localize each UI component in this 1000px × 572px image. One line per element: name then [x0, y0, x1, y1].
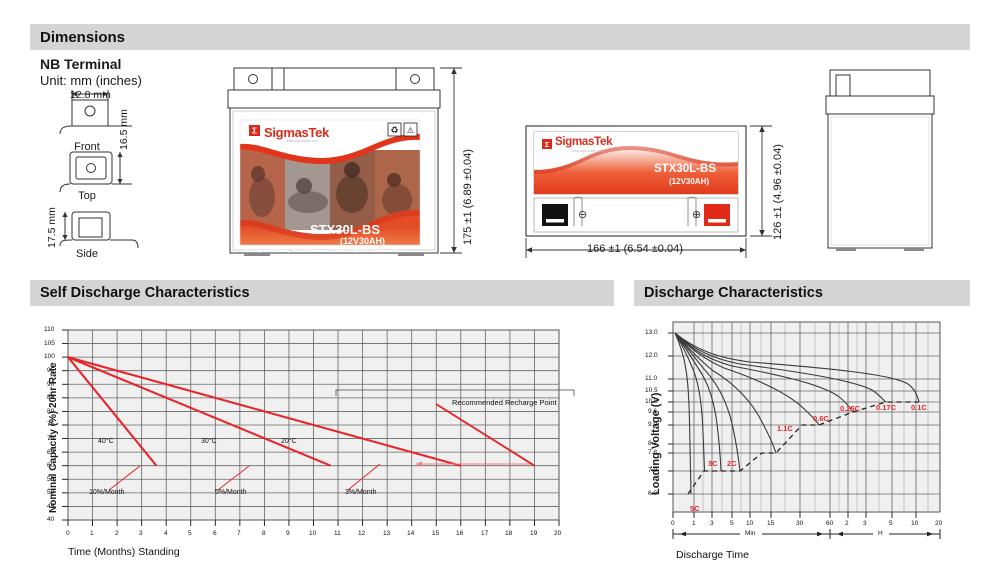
battery-side-height-dim-label: 126 ±1 (4.96 ±0.04) — [772, 144, 784, 240]
svg-text:♻: ♻ — [390, 125, 398, 135]
battery-brand-front: SigmasTek — [264, 125, 329, 140]
dis-curve-label-2c: 2C — [727, 459, 737, 468]
dis-ytick-11: 11.0 — [645, 375, 657, 382]
terminal-depth-dim-label: 16.5 mm — [118, 109, 130, 150]
sd-xtick-2: 2 — [115, 530, 119, 537]
terminal-width-dim-label: 12.8 mm — [70, 89, 111, 101]
sd-annot-3pct: 3%/Month — [345, 489, 377, 496]
battery-rear-view — [818, 62, 968, 262]
dis-xtick-15: 15 — [767, 520, 774, 527]
dis-xtick-5: 5 — [730, 520, 734, 527]
dis-xtick-60: 60 — [826, 520, 833, 527]
sd-annot-5pct: 5%/Month — [215, 489, 247, 496]
section-header-discharge: Discharge Characteristics — [634, 280, 970, 306]
sd-annot-20c: 20°C — [281, 438, 297, 445]
dis-curve-label-025c: 0.25C — [840, 404, 860, 413]
terminal-height-dim-label: 17.5 mm — [46, 207, 58, 248]
sd-xtick-5: 5 — [188, 530, 192, 537]
dis-xtick-10h: 10 — [911, 520, 918, 527]
dis-curve-label-3c: 3C — [708, 459, 718, 468]
self-discharge-chart — [36, 312, 596, 562]
unit-label: Unit: mm (inches) — [40, 73, 142, 88]
sd-annot-40c: 40°C — [98, 438, 114, 445]
dis-x-axis-title: Discharge Time — [676, 549, 749, 561]
sd-xtick-1: 1 — [90, 530, 94, 537]
sd-ytick-100: 100 — [44, 353, 55, 360]
terminal-view-front-label: Front — [62, 141, 112, 153]
terminal-view-top-label: Top — [62, 190, 112, 202]
dis-xtick-3h: 3 — [863, 520, 867, 527]
dis-curve-label-01c: 0.1C — [911, 403, 927, 412]
terminal-view-side-label: Side — [62, 248, 112, 260]
sd-y-axis-title: Nominal Capacity (%) 20hr Rate — [48, 362, 59, 513]
section-header-self-discharge: Self Discharge Characteristics — [30, 280, 614, 306]
dis-curve-label-06c: 0.6C — [813, 414, 829, 423]
battery-model-side: STX30L-BS — [654, 163, 716, 175]
nb-terminal-title: NB Terminal — [40, 56, 121, 72]
battery-length-dim-label: 166 ±1 (6.54 ±0.04) — [587, 243, 683, 255]
sd-ytick-110: 110 — [44, 326, 54, 333]
dis-axis-group-h: H — [878, 530, 883, 537]
dis-curve-label-5c: 5C — [690, 504, 700, 513]
sd-xtick-10: 10 — [309, 530, 316, 537]
sd-xtick-0: 0 — [66, 530, 70, 537]
sd-xtick-16: 16 — [456, 530, 463, 537]
sd-xtick-19: 19 — [530, 530, 537, 537]
dis-xtick-30: 30 — [796, 520, 803, 527]
dis-curve-label-017c: 0.17C — [876, 403, 896, 412]
section-title-self-discharge: Self Discharge Characteristics — [40, 285, 250, 301]
dis-xtick-20h: 20 — [935, 520, 942, 527]
sd-xtick-20: 20 — [554, 530, 561, 537]
battery-model-front: STX30L-BS — [310, 222, 380, 237]
dis-ytick-12: 12.0 — [645, 352, 658, 359]
dis-xtick-10: 10 — [746, 520, 753, 527]
dis-xtick-2h: 2 — [845, 520, 849, 527]
positive-terminal-icon: ⊕ — [692, 208, 701, 221]
sd-ytick-105: 105 — [44, 340, 55, 347]
section-header-dimensions: Dimensions — [30, 24, 970, 50]
dis-ytick-13: 13.0 — [645, 329, 658, 336]
section-title-discharge: Discharge Characteristics — [644, 285, 823, 301]
dis-xtick-1: 1 — [692, 520, 696, 527]
sd-xtick-18: 18 — [505, 530, 512, 537]
battery-spec-front: (12V30AH) — [340, 236, 385, 246]
battery-spec-side: (12V30AH) — [669, 177, 709, 186]
sd-xtick-3: 3 — [139, 530, 143, 537]
dis-xtick-0: 0 — [671, 520, 675, 527]
sd-xtick-6: 6 — [213, 530, 217, 537]
battery-features-front: • Power Sports AGM Battery • Superior Pe… — [243, 249, 401, 253]
sd-xtick-4: 4 — [164, 530, 168, 537]
sd-xtick-11: 11 — [334, 530, 341, 537]
section-title-dimensions: Dimensions — [40, 29, 125, 46]
sd-annot-recharge-point: Recommended Recharge Point — [452, 398, 557, 407]
battery-brand-side: SigmasTek — [555, 136, 612, 148]
sd-xtick-15: 15 — [432, 530, 439, 537]
svg-text:Σ: Σ — [252, 127, 257, 136]
dis-curve-label-11c: 1.1C — [777, 424, 793, 433]
dis-axis-group-min: Min — [745, 530, 755, 537]
battery-website-front: www.sigmastek.com — [286, 139, 319, 143]
dis-xtick-3: 3 — [710, 520, 714, 527]
sd-ytick-40: 40 — [47, 516, 54, 523]
sd-annot-30c: 30°C — [201, 438, 217, 445]
dis-y-axis-title: Loading Voltage (V) — [650, 393, 662, 495]
sd-xtick-7: 7 — [237, 530, 241, 537]
battery-height-dim-label: 175 ±1 (6.89 ±0.04) — [462, 149, 474, 245]
sd-xtick-9: 9 — [286, 530, 290, 537]
sd-x-axis-title: Time (Months) Standing — [68, 546, 180, 558]
battery-website-side: www.sigmastek.com — [572, 149, 603, 153]
svg-text:⚠: ⚠ — [407, 126, 414, 135]
sd-xtick-17: 17 — [481, 530, 488, 537]
svg-text:Σ: Σ — [545, 140, 550, 149]
sd-annot-10pct: 10%/Month — [89, 489, 124, 496]
negative-terminal-icon: ⊖ — [578, 208, 587, 221]
sd-xtick-13: 13 — [383, 530, 390, 537]
dis-xtick-5h: 5 — [889, 520, 893, 527]
discharge-time-bracket — [640, 528, 985, 550]
sd-xtick-14: 14 — [407, 530, 414, 537]
sd-xtick-12: 12 — [358, 530, 365, 537]
sd-xtick-8: 8 — [262, 530, 266, 537]
